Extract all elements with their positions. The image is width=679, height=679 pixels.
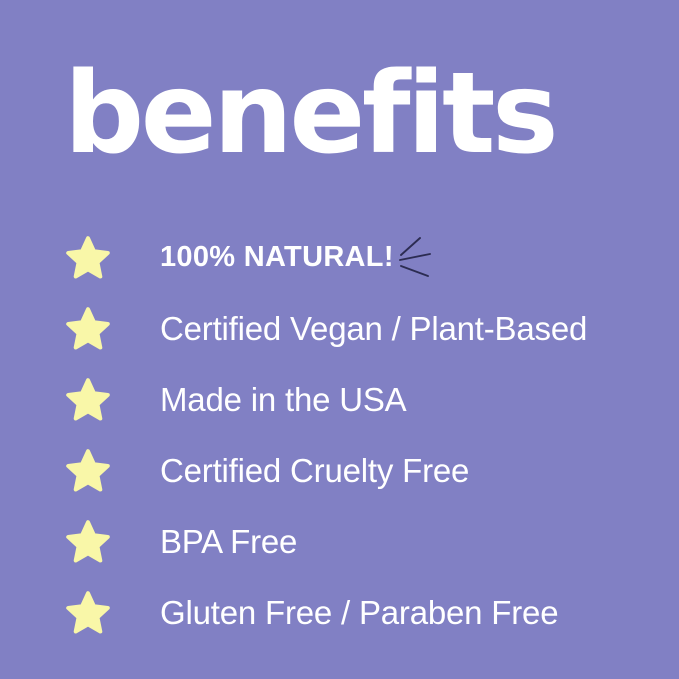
star-icon <box>66 236 110 280</box>
star-cell <box>0 577 160 648</box>
benefit-label: BPA Free <box>160 525 297 558</box>
benefit-label: Certified Cruelty Free <box>160 454 469 487</box>
star-icon <box>66 307 110 351</box>
star-icon <box>66 591 110 635</box>
benefit-label: Gluten Free / Paraben Free <box>160 596 558 629</box>
benefits-poster: benefits 100% NATURAL! <box>0 0 679 679</box>
star-cell <box>0 222 160 293</box>
star-icon <box>66 520 110 564</box>
star-cell <box>0 506 160 577</box>
list-item: BPA Free <box>0 506 679 577</box>
star-icon <box>66 378 110 422</box>
list-item: 100% NATURAL! <box>0 222 679 293</box>
star-cell <box>0 364 160 435</box>
sparkle-burst-icon <box>396 231 450 285</box>
list-item: Gluten Free / Paraben Free <box>0 577 679 648</box>
list-item: Certified Cruelty Free <box>0 435 679 506</box>
benefits-list: 100% NATURAL! Certified Vegan / Plant-Ba… <box>0 222 679 648</box>
benefit-label: Certified Vegan / Plant-Based <box>160 312 587 345</box>
benefit-label: Made in the USA <box>160 383 406 416</box>
star-cell <box>0 293 160 364</box>
list-item: Made in the USA <box>0 364 679 435</box>
star-cell <box>0 435 160 506</box>
benefit-label: 100% NATURAL! <box>160 243 394 272</box>
list-item: Certified Vegan / Plant-Based <box>0 293 679 364</box>
star-icon <box>66 449 110 493</box>
page-title: benefits <box>64 58 555 170</box>
